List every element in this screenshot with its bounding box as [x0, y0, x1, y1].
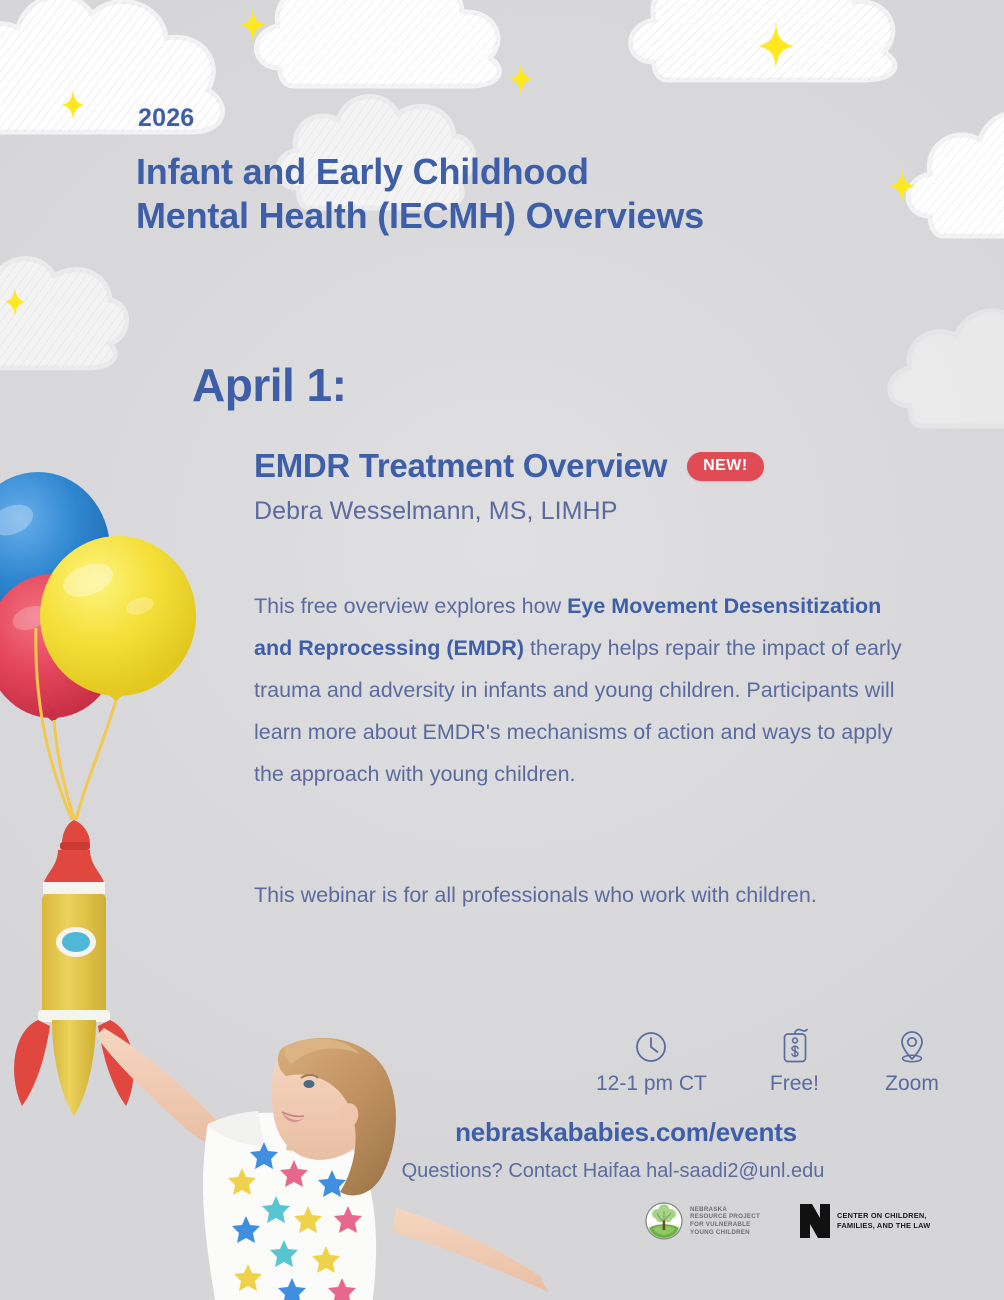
unl-ccfl-text: CENTER ON CHILDREN, FAMILIES, AND THE LA…	[837, 1211, 930, 1230]
event-details-row: 12-1 pm CT Free!	[596, 1028, 942, 1096]
unl-ccfl-logo: CENTER ON CHILDREN, FAMILIES, AND THE LA…	[800, 1204, 930, 1238]
balloon-rocket-illustration	[0, 468, 230, 1133]
nebraska-resource-project-text: NEBRASKA RESOURCE PROJECT FOR VULNERABLE…	[690, 1206, 760, 1236]
detail-location-label: Zoom	[885, 1072, 939, 1096]
registration-url-text[interactable]: nebraskababies.com/events	[455, 1117, 797, 1148]
sparkle-star-icon	[758, 22, 794, 70]
nrp-line-4: YOUNG CHILDREN	[690, 1229, 760, 1237]
cloud-decoration	[620, 0, 920, 90]
unl-line-1: CENTER ON CHILDREN,	[837, 1211, 930, 1221]
contact-text: Questions? Contact Haifaa hal-saadi2@unl…	[402, 1160, 825, 1183]
detail-time: 12-1 pm CT	[596, 1028, 707, 1096]
description-part-1: This free overview explores how	[254, 594, 567, 618]
cloud-decoration	[900, 80, 1004, 250]
cloud-decoration	[246, 0, 526, 94]
sparkle-star-icon	[509, 63, 533, 95]
session-title: EMDR Treatment Overview	[254, 447, 667, 485]
poster-canvas: 2026 Infant and Early Childhood Mental H…	[0, 0, 1004, 1300]
cloud-decoration	[0, 230, 130, 380]
logo-row: NEBRASKA RESOURCE PROJECT FOR VULNERABLE…	[645, 1202, 930, 1240]
tree-circle-logo-icon	[645, 1202, 683, 1240]
unl-line-2: FAMILIES, AND THE LAW	[837, 1221, 930, 1231]
price-tag-icon	[777, 1028, 811, 1066]
page-title-line-1: Infant and Early Childhood	[136, 150, 856, 194]
detail-price: Free!	[764, 1028, 824, 1096]
nrp-line-3: FOR VULNERABLE	[690, 1221, 760, 1229]
nebraska-resource-project-logo: NEBRASKA RESOURCE PROJECT FOR VULNERABLE…	[645, 1202, 760, 1240]
contact-line: Questions? Contact Haifaa hal-saadi2@unl…	[0, 1160, 1004, 1183]
nrp-line-1: NEBRASKA	[690, 1206, 760, 1214]
session-title-row: EMDR Treatment Overview NEW!	[254, 447, 764, 485]
clock-icon	[634, 1028, 668, 1066]
sparkle-star-icon	[889, 169, 915, 203]
new-badge: NEW!	[687, 452, 764, 481]
detail-time-label: 12-1 pm CT	[596, 1072, 707, 1096]
location-pin-icon	[895, 1028, 929, 1066]
session-description: This free overview explores how Eye Move…	[254, 585, 904, 795]
page-title-line-2: Mental Health (IECMH) Overviews	[136, 194, 856, 238]
sparkle-star-icon	[62, 90, 84, 120]
sparkle-star-icon	[240, 8, 266, 42]
audience-statement: This webinar is for all professionals wh…	[254, 880, 934, 910]
cloud-decoration	[0, 0, 270, 156]
registration-url[interactable]: nebraskababies.com/events	[0, 1117, 1004, 1148]
year-label: 2026	[138, 104, 194, 133]
page-title: Infant and Early Childhood Mental Health…	[136, 150, 856, 238]
nebraska-n-icon	[800, 1204, 830, 1238]
sparkle-star-icon	[5, 288, 25, 316]
session-date-heading: April 1:	[192, 358, 346, 412]
presenter-name: Debra Wesselmann, MS, LIMHP	[254, 497, 617, 526]
detail-location: Zoom	[882, 1028, 942, 1096]
cloud-decoration	[880, 280, 1004, 440]
nrp-line-2: RESOURCE PROJECT	[690, 1213, 760, 1221]
detail-price-label: Free!	[770, 1072, 819, 1096]
